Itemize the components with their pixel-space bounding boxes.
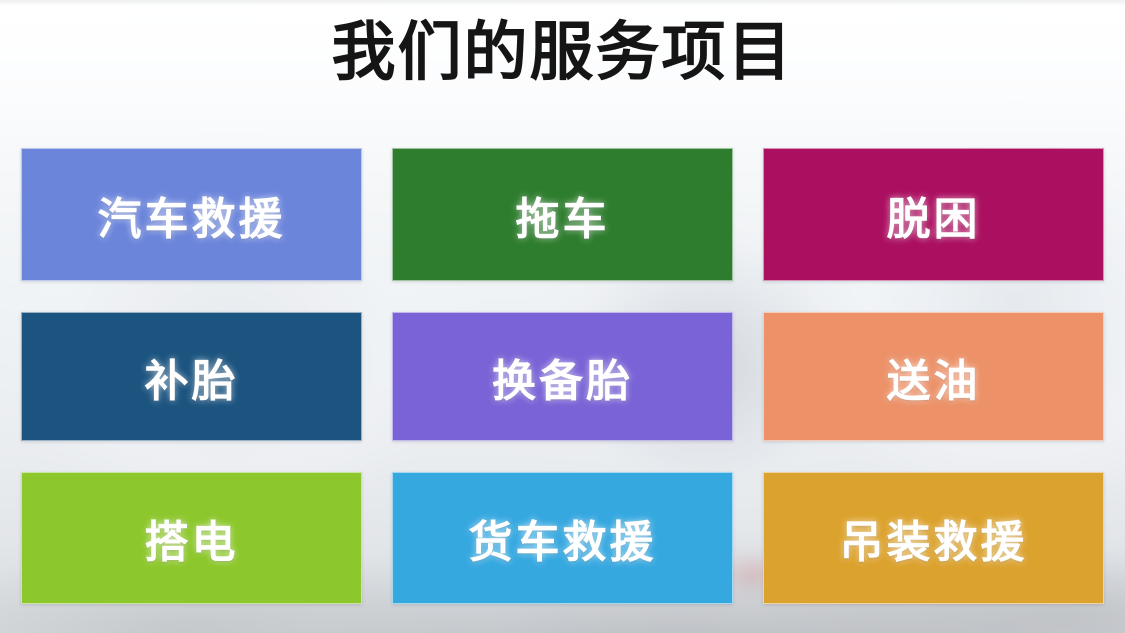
service-menu-page: 我们的服务项目 汽车救援 拖车 脱困 补胎 换备胎 送油 搭电 货车救援 吊装救… (0, 0, 1125, 633)
service-tile-label: 货车救援 (469, 506, 657, 570)
service-tile-label: 吊装救援 (840, 506, 1028, 570)
service-tile-diaozhuang-jiuyuan[interactable]: 吊装救援 (763, 472, 1104, 604)
service-tile-label: 脱困 (887, 183, 981, 247)
service-tile-huoche-jiuyuan[interactable]: 货车救援 (392, 472, 733, 604)
service-tile-songyou[interactable]: 送油 (763, 312, 1104, 441)
top-edge-strip (0, 0, 1125, 6)
service-tile-label: 搭电 (145, 506, 239, 570)
service-tile-butai[interactable]: 补胎 (21, 312, 362, 441)
service-tile-label: 补胎 (145, 345, 239, 409)
service-tile-label: 换备胎 (492, 345, 633, 409)
service-tile-label: 送油 (887, 345, 981, 409)
service-tile-huanbeitai[interactable]: 换备胎 (392, 312, 733, 441)
page-title-container: 我们的服务项目 (0, 18, 1125, 87)
service-grid: 汽车救援 拖车 脱困 补胎 换备胎 送油 搭电 货车救援 吊装救援 (21, 148, 1104, 604)
service-tile-qiche-jiuyuan[interactable]: 汽车救援 (21, 148, 362, 281)
service-tile-tuokun[interactable]: 脱困 (763, 148, 1104, 281)
page-title: 我们的服务项目 (332, 18, 794, 87)
service-tile-label: 拖车 (516, 183, 610, 247)
service-tile-label: 汽车救援 (98, 183, 286, 247)
service-tile-dadian[interactable]: 搭电 (21, 472, 362, 604)
service-tile-tuoche[interactable]: 拖车 (392, 148, 733, 281)
